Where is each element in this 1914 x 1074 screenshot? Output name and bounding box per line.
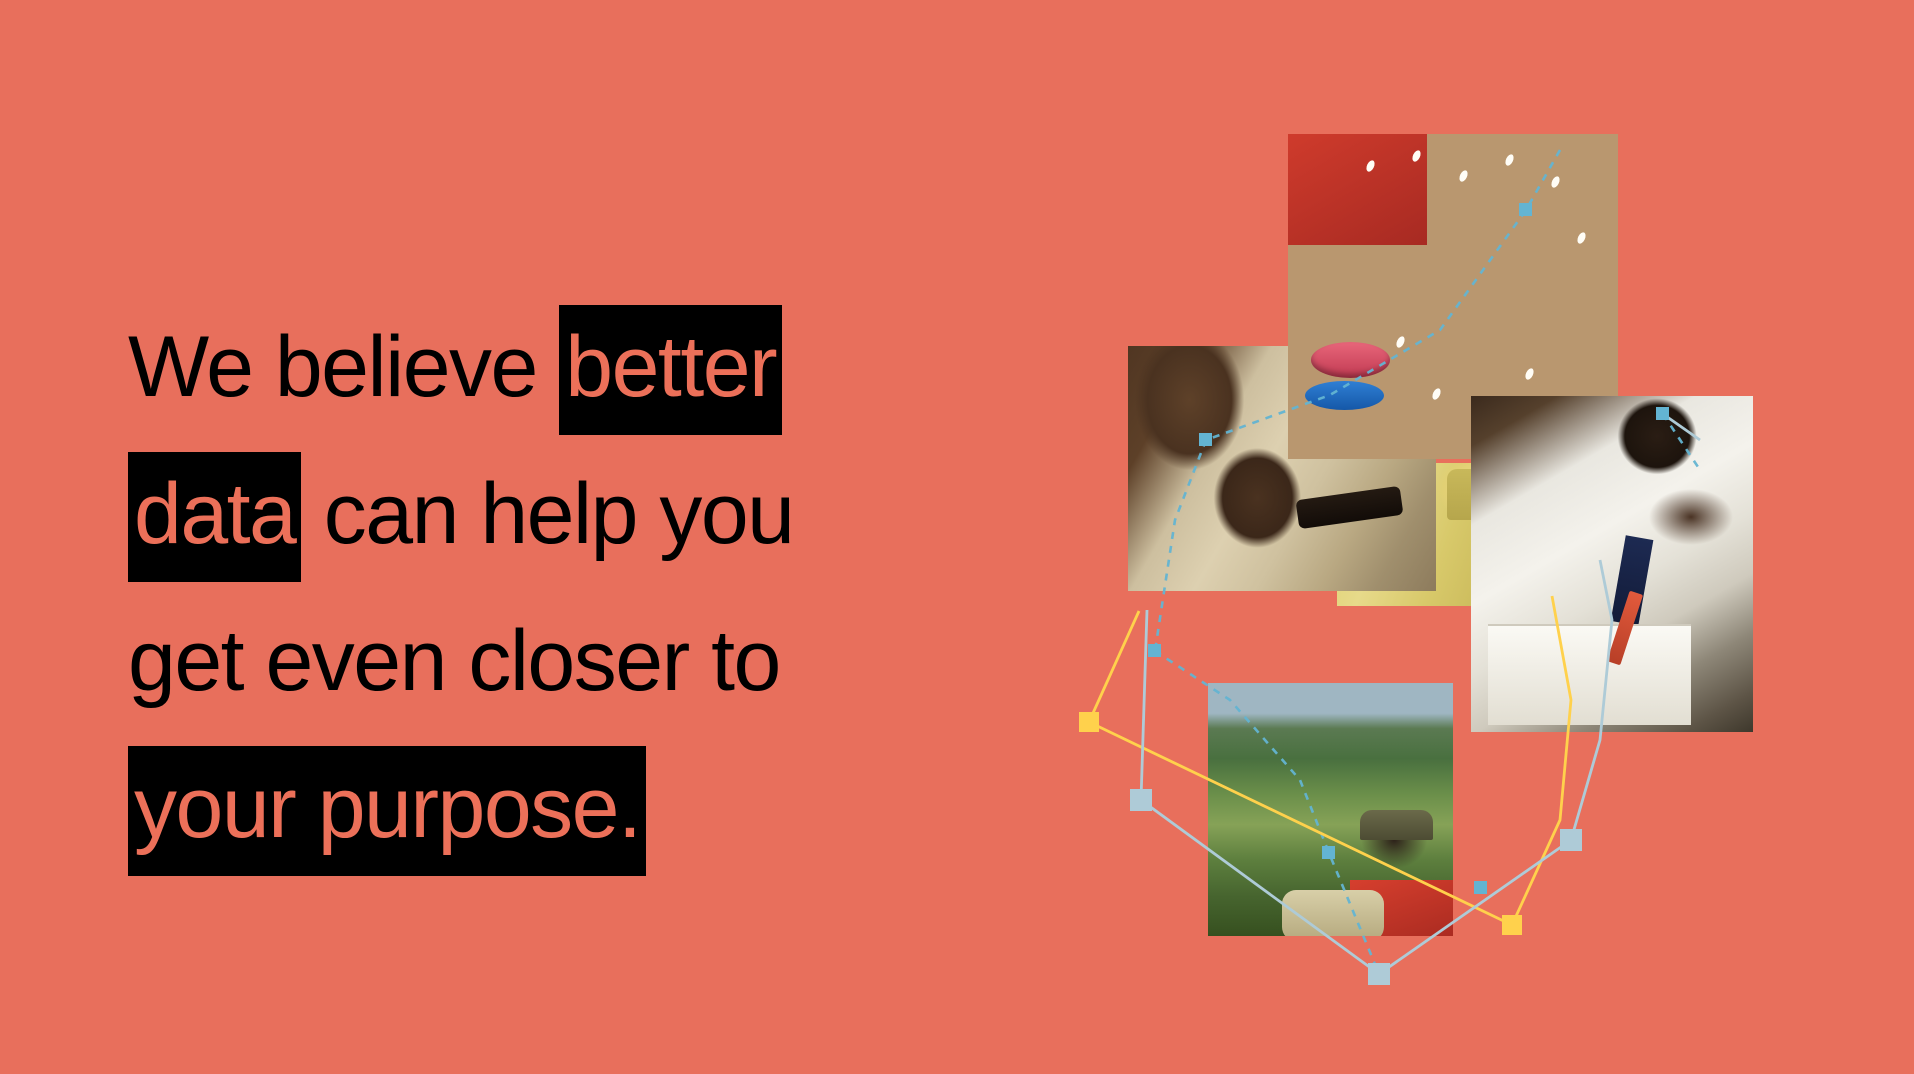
headline-plain-2: can help you xyxy=(301,466,793,562)
headline-plain-3: get even closer to xyxy=(128,613,780,709)
network-node-n6 xyxy=(1130,789,1152,811)
headline-highlight-data: data xyxy=(128,452,301,582)
headline-highlight-better: better xyxy=(559,305,782,435)
photo-schoolgirl-writing xyxy=(1471,396,1753,732)
photo-farmer-green-landscape xyxy=(1208,683,1453,936)
network-node-n11 xyxy=(1322,846,1335,859)
headline-plain-1: We believe xyxy=(128,319,559,415)
headline-line-4: your purpose. xyxy=(128,735,1008,882)
network-node-n8 xyxy=(1502,915,1522,935)
network-node-n2 xyxy=(1519,203,1532,216)
headline-line-2: data can help you xyxy=(128,441,1008,588)
network-node-n9 xyxy=(1560,829,1582,851)
network-node-n3 xyxy=(1656,407,1669,420)
network-node-n1 xyxy=(1199,433,1212,446)
headline-line-1: We believe better xyxy=(128,294,1008,441)
network-node-n4 xyxy=(1148,644,1161,657)
network-node-n7 xyxy=(1474,881,1487,894)
hero-banner: We believe better data can help you get … xyxy=(0,0,1914,1074)
headline-line-3: get even closer to xyxy=(128,588,1008,735)
headline-highlight-your-purpose: your purpose. xyxy=(128,746,646,876)
page-title: We believe better data can help you get … xyxy=(128,294,1008,882)
network-node-n5 xyxy=(1079,712,1099,732)
network-node-n10 xyxy=(1368,963,1390,985)
